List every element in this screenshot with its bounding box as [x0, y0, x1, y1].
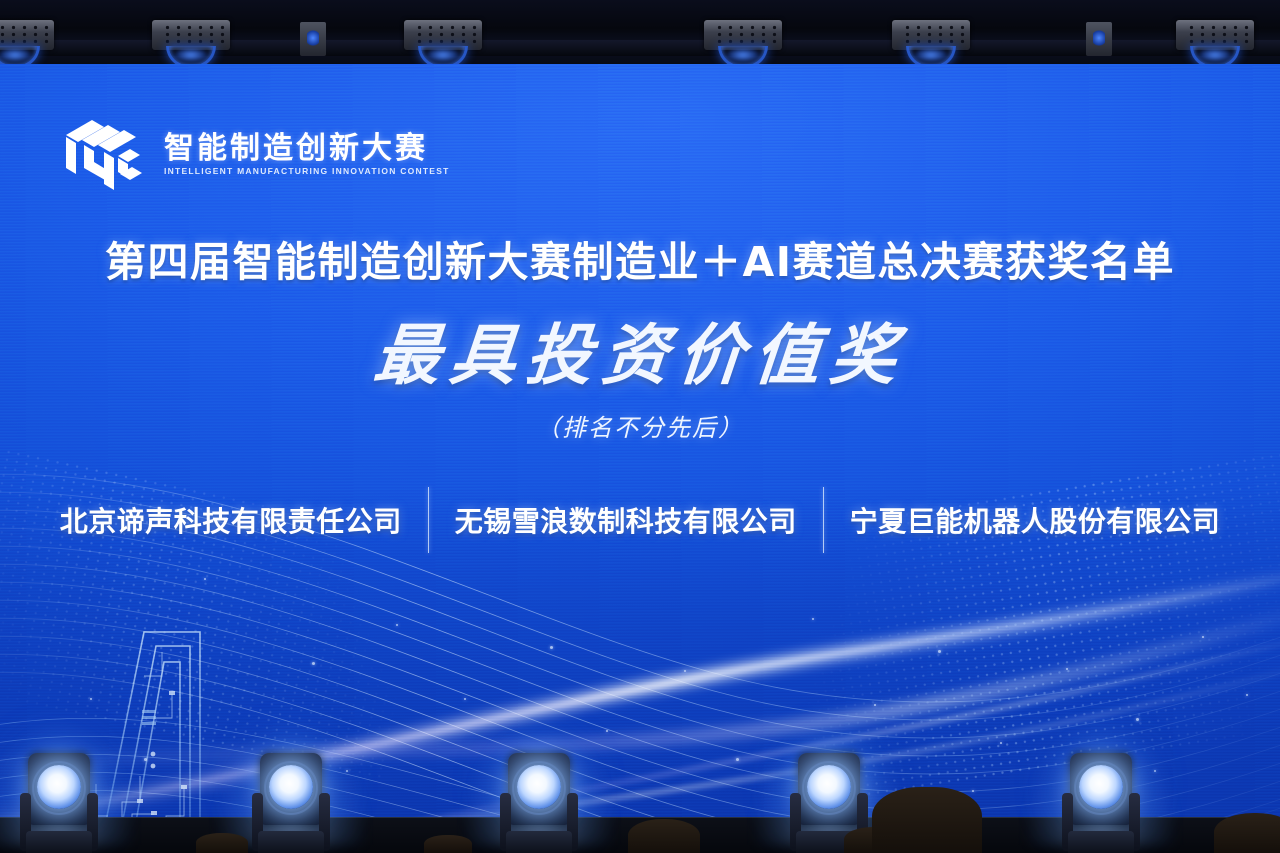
- logo-english-name: INTELLIGENT MANUFACTURING INNOVATION CON…: [164, 167, 450, 176]
- winner-item: 北京谛声科技有限责任公司: [34, 500, 428, 540]
- award-title: 最具投资价值奖: [0, 318, 1280, 394]
- winner-list: 北京谛声科技有限责任公司 无锡雪浪数制科技有限公司 宁夏巨能机器人股份有限公司: [0, 487, 1280, 553]
- logo-chinese-name: 智能制造创新大赛: [164, 134, 450, 164]
- stage-photo: 智能制造创新大赛 INTELLIGENT MANUFACTURING INNOV…: [0, 0, 1280, 853]
- main-title: 第四届智能制造创新大赛制造业＋AI赛道总决赛获奖名单: [0, 240, 1280, 285]
- contest-logo: 智能制造创新大赛 INTELLIGENT MANUFACTURING INNOV…: [62, 112, 450, 198]
- slide-content: 智能制造创新大赛 INTELLIGENT MANUFACTURING INNOV…: [0, 0, 1280, 853]
- winner-item: 宁夏巨能机器人股份有限公司: [824, 500, 1247, 540]
- imic-cube-logo-icon: [62, 112, 150, 198]
- winner-item: 无锡雪浪数制科技有限公司: [429, 500, 823, 540]
- award-note: （排名不分先后）: [0, 408, 1280, 443]
